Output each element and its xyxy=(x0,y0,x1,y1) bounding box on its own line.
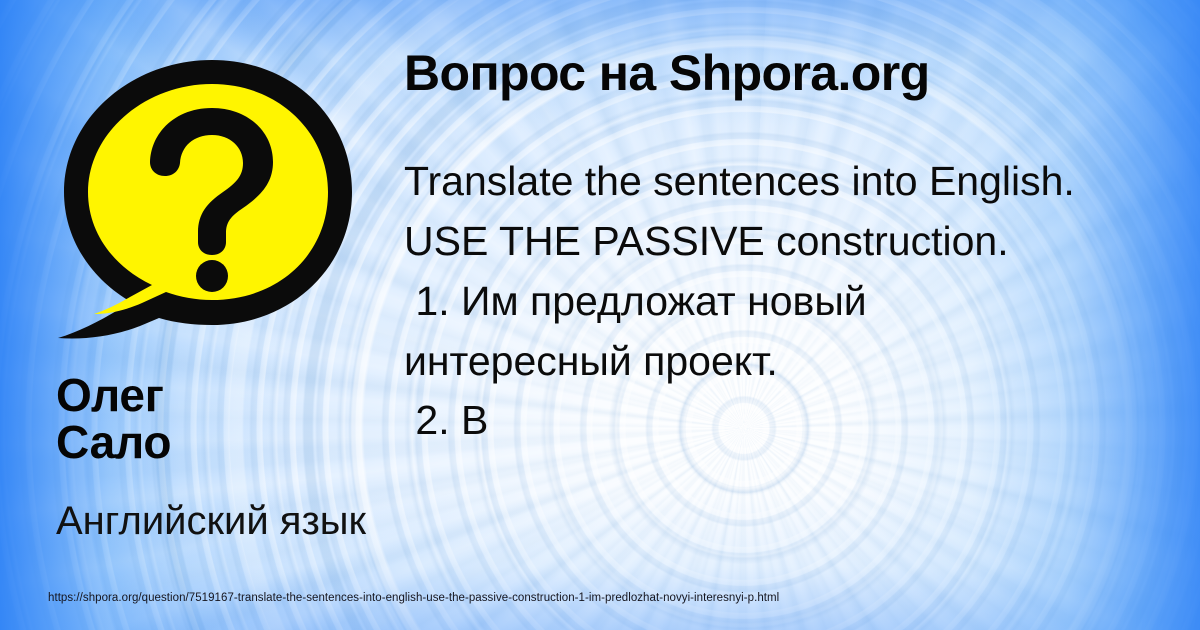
question-speech-bubble-icon xyxy=(52,52,358,344)
author-name: Олег Сало xyxy=(56,372,376,467)
author-column: Олег Сало Английский язык xyxy=(0,0,392,630)
source-url[interactable]: https://shpora.org/question/7519167-tran… xyxy=(48,592,779,604)
question-text: Translate the sentences into English. US… xyxy=(404,152,1082,552)
share-card: Олег Сало Английский язык Вопрос на Shpo… xyxy=(0,0,1200,630)
question-column: Вопрос на Shpora.org Translate the sente… xyxy=(400,0,1090,575)
page-title: Вопрос на Shpora.org xyxy=(404,48,1094,98)
